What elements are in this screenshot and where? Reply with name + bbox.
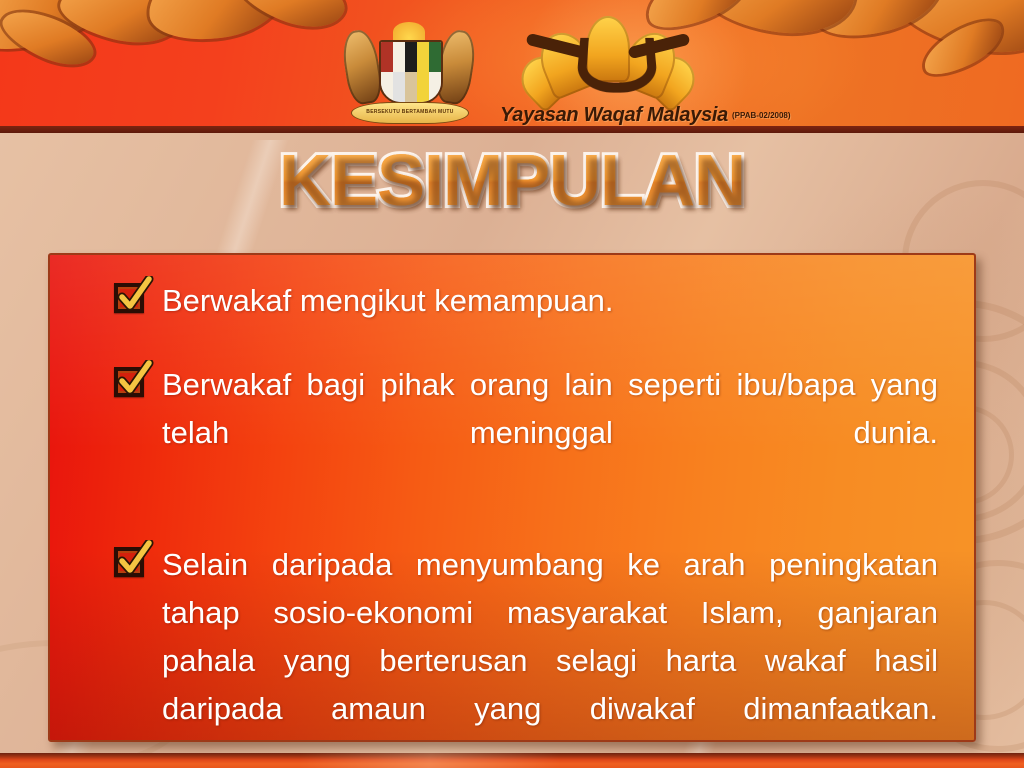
page-title: KESIMPULAN [0,142,1024,220]
list-item-text: Selain daripada menyumbang ke arah penin… [162,541,938,742]
list-item-text: Berwakaf bagi pihak orang lain seperti i… [162,361,938,505]
malaysia-coat-of-arms-icon: BERSEKUTU BERTAMBAH MUTU [345,24,473,120]
list-item-text: Berwakaf mengikut kemampuan. [162,277,938,325]
list-item: Berwakaf mengikut kemampuan. [108,277,938,325]
open-book-vee-icon [575,38,658,93]
tiger-supporter-left-icon [339,28,384,106]
footer-shine [300,753,560,768]
list-item: Berwakaf bagi pihak orang lain seperti i… [108,361,938,505]
content-box: Berwakaf mengikut kemampuan. Berwakaf ba… [48,253,976,742]
checkbox-tick-icon [114,283,148,315]
page-title-text: KESIMPULAN [279,142,745,220]
checkbox-tick-icon [114,547,148,579]
organization-name-text: Yayasan Waqaf Malaysia [500,104,728,126]
crescent-and-star-crest-icon [393,22,425,42]
coat-of-arms-shield-icon [379,40,443,104]
presentation-slide: BERSEKUTU BERTAMBAH MUTU Yayasan Waqaf M… [0,0,1024,768]
registration-number: (PPAB-02/2008) [732,111,791,120]
list-item: Selain daripada menyumbang ke arah penin… [108,541,938,742]
checkbox-tick-icon [114,367,148,399]
organization-name: Yayasan Waqaf Malaysia(PPAB-02/2008) [500,104,800,127]
coat-of-arms-motto-text: BERSEKUTU BERTAMBAH MUTU [352,103,468,122]
slide-header-band: BERSEKUTU BERTAMBAH MUTU Yayasan Waqaf M… [0,0,1024,133]
header-bottom-rule [0,126,1024,133]
slide-footer-strip [0,753,1024,768]
yayasan-waqaf-malaysia-lotus-logo-icon [528,16,688,108]
coat-of-arms-motto-ribbon: BERSEKUTU BERTAMBAH MUTU [351,102,469,124]
